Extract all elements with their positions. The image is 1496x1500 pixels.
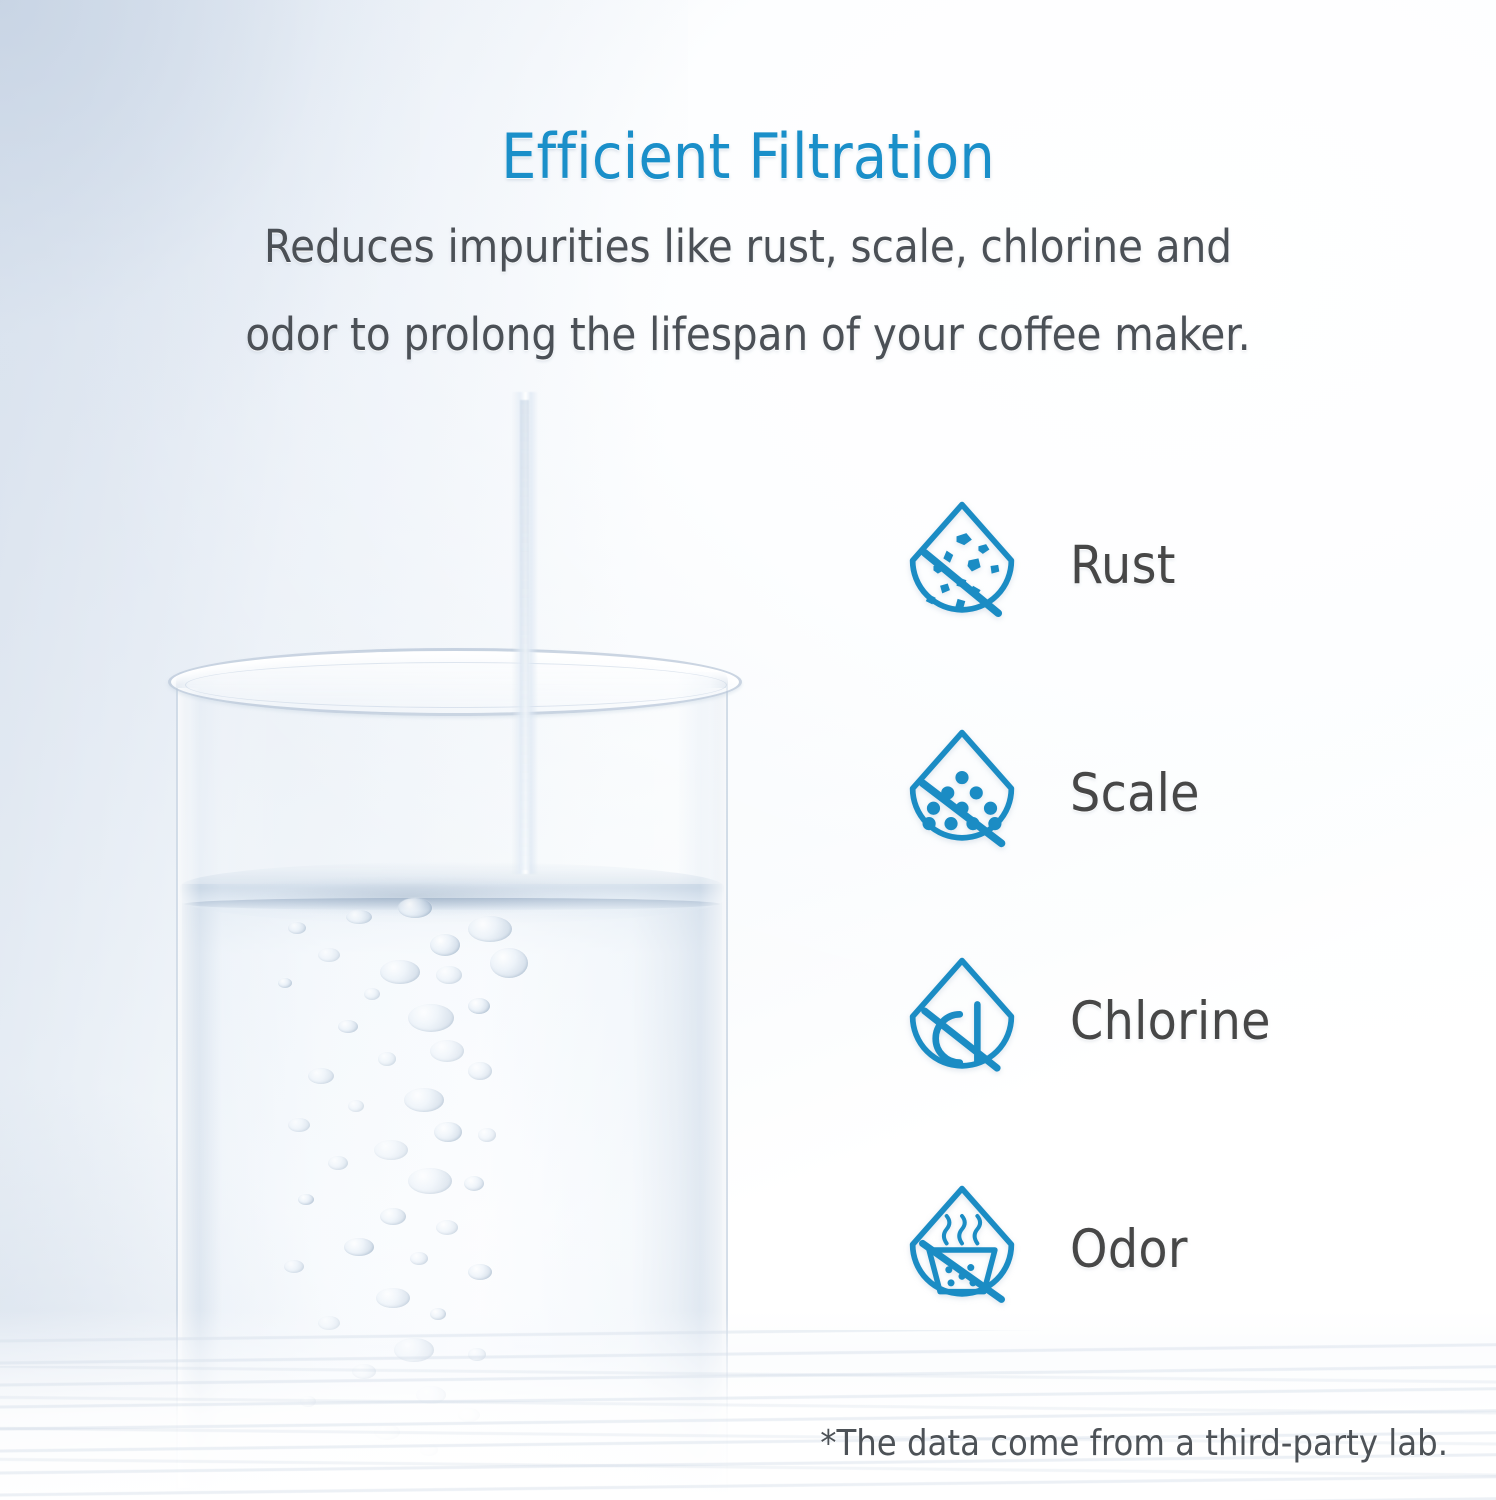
feature-row-rust: Rust [896,452,1436,680]
air-bubble [344,1238,374,1256]
feature-row-odor: Odor [896,1136,1436,1364]
feature-row-chlorine: Chlorine [896,908,1436,1136]
page-title: Efficient Filtration [0,0,1496,192]
air-bubble [408,1004,454,1032]
water-drop-scale-icon [896,726,1028,862]
water-drop-odor-icon [896,1182,1028,1318]
air-bubble [378,1052,396,1066]
feature-list: Rust [896,452,1436,1364]
air-bubble [490,948,528,978]
feature-label-chlorine: Chlorine [1070,993,1271,1051]
air-bubble [468,1062,492,1080]
water-line [184,898,720,910]
feature-label-odor: Odor [1070,1221,1188,1279]
glass-rim-inner [185,662,727,708]
air-bubble [380,960,420,984]
air-bubble [436,1220,458,1235]
air-bubble [278,978,292,988]
air-bubble [436,966,462,984]
feature-row-scale: Scale [896,680,1436,908]
water-drop-rust-icon [896,498,1028,634]
product-feature-banner: Efficient Filtration Reduces impurities … [0,0,1496,1500]
air-bubble [478,1128,496,1142]
feature-label-rust: Rust [1070,537,1176,595]
air-bubble [398,898,432,918]
pour-stream-core [520,400,529,870]
air-bubble [364,988,380,1000]
air-bubble [468,1264,492,1280]
air-bubble [284,1260,304,1273]
air-bubble [348,1100,364,1112]
subtitle-line-2: odor to prolong the lifespan of your cof… [0,280,1496,368]
air-bubble [430,934,460,956]
air-bubble [430,1040,464,1062]
air-bubble [318,948,340,962]
air-bubble [410,1252,428,1265]
air-bubble [408,1168,452,1194]
air-bubble [288,1118,310,1132]
air-bubble [308,1068,334,1084]
air-bubble [376,1288,410,1308]
air-bubble [434,1122,462,1142]
air-bubble [338,1020,358,1033]
air-bubble [468,916,512,942]
air-bubble [404,1088,444,1112]
air-bubble [288,922,306,934]
air-bubble [374,1140,408,1160]
footnote-disclaimer: *The data come from a third-party lab. [820,1422,1448,1466]
water-drop-chlorine-icon [896,954,1028,1090]
water-surface [180,862,724,924]
air-bubble [346,910,372,924]
air-bubble [464,1176,484,1191]
air-bubble [468,998,490,1014]
text-header-block: Efficient Filtration Reduces impurities … [0,0,1496,368]
subtitle-line-1: Reduces impurities like rust, scale, chl… [0,192,1496,280]
air-bubble [380,1208,406,1225]
air-bubble [328,1156,348,1170]
feature-label-scale: Scale [1070,765,1200,823]
air-bubble [298,1194,314,1205]
glass-rim [168,648,742,716]
